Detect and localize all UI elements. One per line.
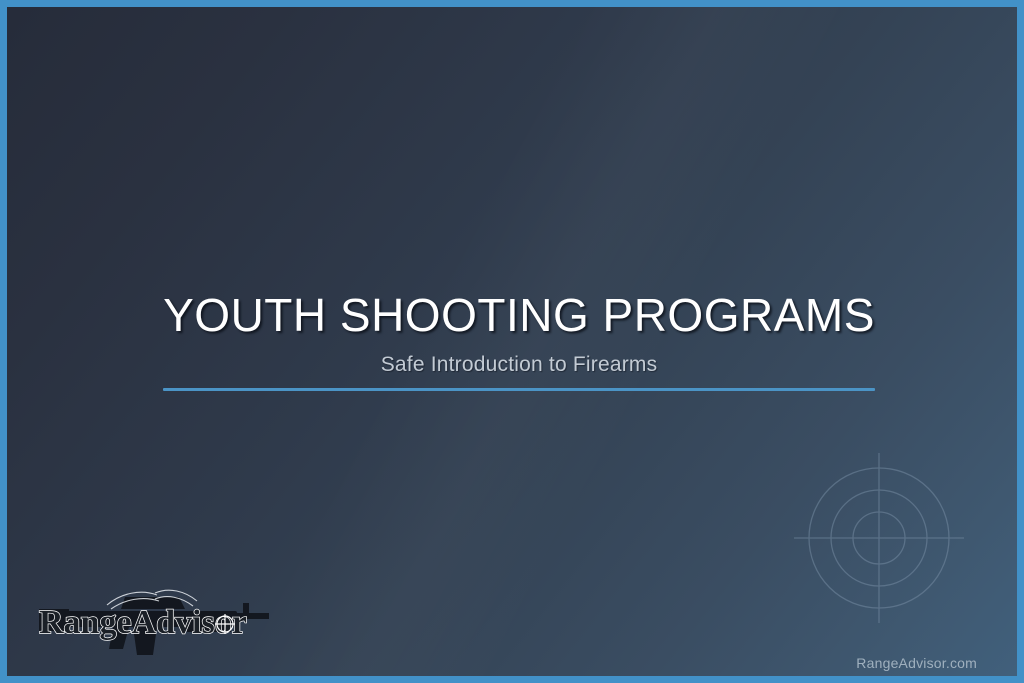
brand-logo: RangeAdvisor [29, 569, 279, 669]
page-title: YOUTH SHOOTING PROGRAMS [7, 291, 1024, 339]
target-crosshair-icon [794, 453, 964, 623]
slide-frame: YOUTH SHOOTING PROGRAMS Safe Introductio… [0, 0, 1024, 683]
brand-wordmark: RangeAdvisor [39, 604, 247, 641]
page-subtitle: Safe Introduction to Firearms [7, 353, 1024, 377]
title-block: YOUTH SHOOTING PROGRAMS Safe Introductio… [7, 291, 1024, 377]
footer-url: RangeAdvisor.com [856, 655, 977, 671]
title-divider [163, 388, 875, 391]
